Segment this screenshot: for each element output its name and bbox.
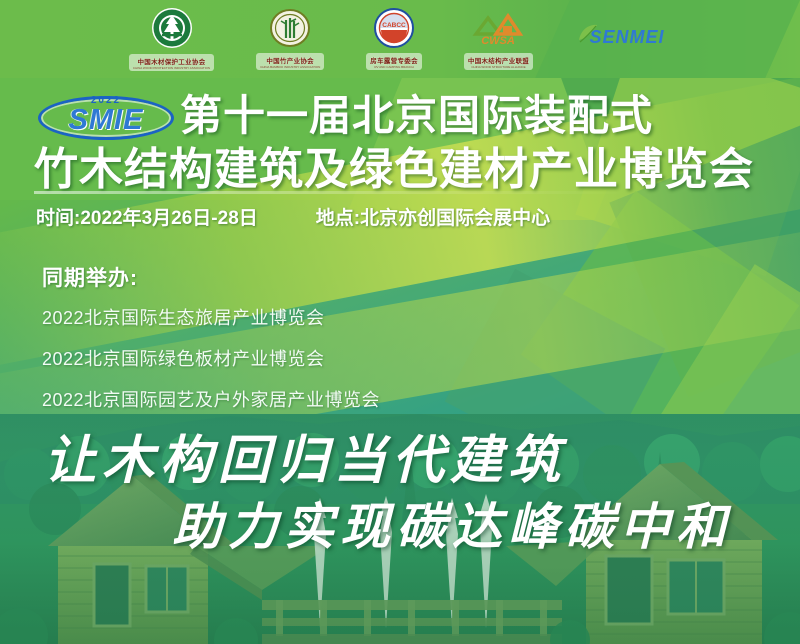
bamboo-seal-emblem-icon	[270, 8, 310, 53]
partner-logo-caption: 房车露营专委会 RV AND CAMPING BRANCH	[366, 53, 422, 70]
exhibition-poster: 中国木材保护工业协会 CHINA WOOD PROTECTION INDUSTR…	[0, 0, 800, 644]
partner-logo-name-en: CHINA WOOD PROTECTION INDUSTRY ASSOCIATI…	[133, 66, 210, 70]
partner-logo-cabcc: CABCC 房车露营专委会 RV AND CAMPING BRANCH	[366, 8, 422, 70]
partner-logo-name-en: CHINA WOOD STRUCTURE ALLIANCE	[471, 65, 525, 69]
svg-text:SENMEI: SENMEI	[590, 27, 665, 47]
partner-logo-name-cn: 房车露营专委会	[370, 55, 418, 65]
leaf-wordmark-icon: SENMEI	[575, 18, 671, 57]
cabcc-oval-emblem-icon: CABCC	[374, 8, 414, 53]
event-date: 时间:2022年3月26日-28日	[36, 203, 258, 230]
svg-text:CWSA: CWSA	[482, 35, 516, 47]
pine-tree-emblem-icon	[151, 7, 193, 54]
partner-logo-row: 中国木材保护工业协会 CHINA WOOD PROTECTION INDUSTR…	[0, 6, 800, 72]
partner-logo-caption: 中国木结构产业联盟 CHINA WOOD STRUCTURE ALLIANCE	[464, 53, 533, 70]
poster-title: 第十一届北京国际装配式 竹木结构建筑及绿色建材产业博览会	[0, 90, 800, 198]
concurrent-event-item: 2022北京国际园艺及户外家居产业博览会	[42, 386, 380, 412]
svg-text:CABCC: CABCC	[382, 22, 406, 29]
slogan-line-2: 助力实现碳达峰碳中和	[172, 487, 732, 559]
partner-logo-name-en: RV AND CAMPING BRANCH	[374, 65, 413, 69]
concurrent-event-item: 2022北京国际绿色板材产业博览会	[42, 345, 380, 371]
partner-logo-china-wood-protection: 中国木材保护工业协会 CHINA WOOD PROTECTION INDUSTR…	[129, 7, 214, 71]
partner-logo-name-cn: 中国木材保护工业协会	[138, 56, 206, 66]
concurrent-events-heading: 同期举办:	[42, 262, 380, 292]
event-venue: 地点:北京亦创国际会展中心	[316, 203, 550, 230]
partner-logo-caption: 中国木材保护工业协会 CHINA WOOD PROTECTION INDUSTR…	[129, 54, 214, 71]
partner-logo-name-cn: 中国木结构产业联盟	[468, 55, 529, 65]
partner-logo-bamboo-association: 中国竹产业协会 CHINA BAMBOO INDUSTRY ASSOCIATIO…	[256, 8, 324, 70]
title-divider	[34, 191, 624, 194]
slogan-line-1: 让木构回归当代建筑	[44, 418, 566, 493]
partner-logo-cwsa: CWSA 中国木结构产业联盟 CHINA WOOD STRUCTURE ALLI…	[464, 8, 533, 70]
house-roof-emblem-icon: CWSA	[470, 8, 526, 53]
poster-title-line-2: 竹木结构建筑及绿色建材产业博览会	[34, 142, 800, 198]
event-meta: 时间:2022年3月26日-28日 地点:北京亦创国际会展中心	[36, 203, 550, 230]
partner-logo-senmei: SENMEI SENMEI	[575, 18, 671, 61]
partner-logo-name-cn: 中国竹产业协会	[266, 55, 314, 65]
partner-logo-caption: 中国竹产业协会 CHINA BAMBOO INDUSTRY ASSOCIATIO…	[256, 53, 324, 70]
partner-logo-name-en: CHINA BAMBOO INDUSTRY ASSOCIATION	[260, 65, 320, 69]
concurrent-events: 同期举办: 2022北京国际生态旅居产业博览会 2022北京国际绿色板材产业博览…	[42, 262, 380, 427]
concurrent-event-item: 2022北京国际生态旅居产业博览会	[42, 304, 380, 330]
poster-title-line-1: 第十一届北京国际装配式	[180, 90, 800, 142]
